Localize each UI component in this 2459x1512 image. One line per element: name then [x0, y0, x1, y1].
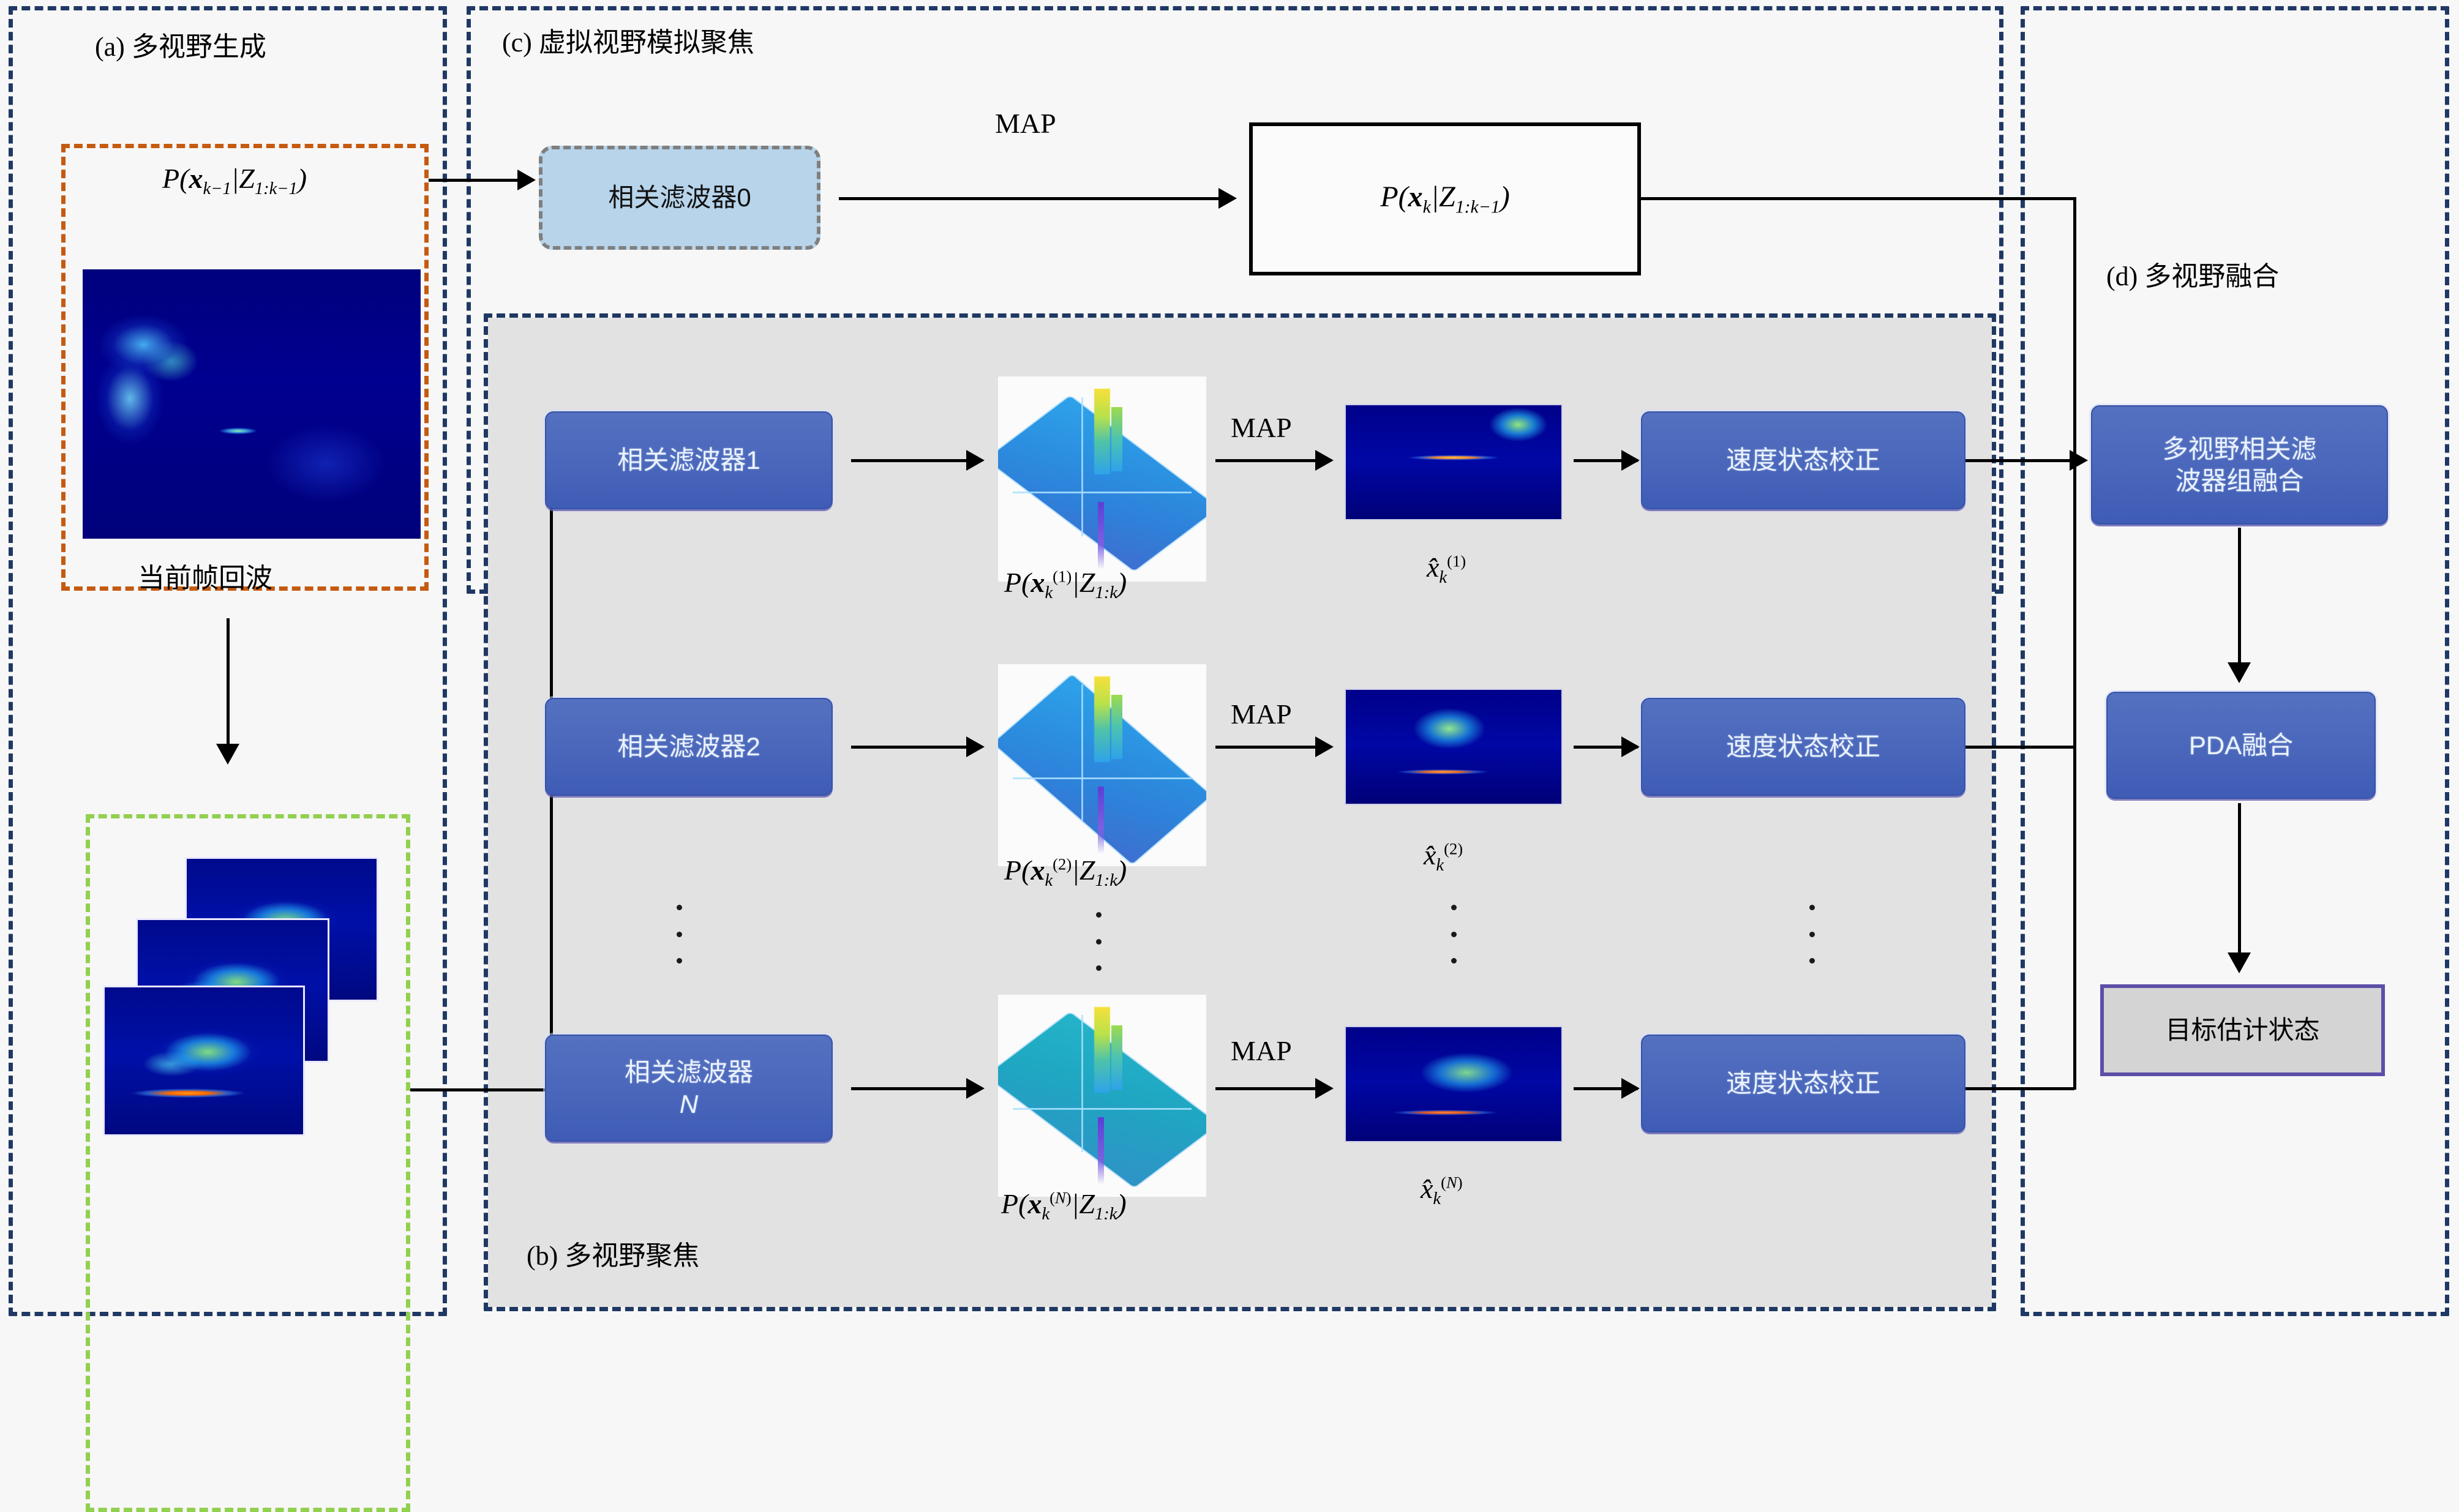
- echo-to-tiles-line: [227, 618, 230, 747]
- filter1-to-surface-arrowhead: [966, 450, 985, 471]
- fusion-to-pda-arrowhead: [2228, 662, 2251, 683]
- ellipsis-surfaces: [1096, 912, 1102, 971]
- right-rail-vertical-top: [2073, 197, 2076, 466]
- correlation-filter-N-label-line1: 相关滤波器: [625, 1058, 753, 1087]
- velocity-correction-1-box[interactable]: 速度状态校正: [1641, 411, 1965, 509]
- current-frame-echo-image: [83, 269, 421, 539]
- posterior-surface-1: [998, 376, 1206, 582]
- filter2-to-surface-arrowhead: [966, 736, 985, 757]
- posterior-2-label: P(xk(2)|Z1:k): [1004, 854, 1127, 891]
- filter0-to-posterior-arrowhead: [1218, 188, 1237, 209]
- right-rail-vertical: [2073, 458, 2076, 1090]
- estimateN-to-velocity-arrowhead: [1621, 1078, 1640, 1099]
- map-label-1: MAP: [1231, 411, 1292, 444]
- surfaceN-to-estimate-arrowhead: [1315, 1078, 1334, 1099]
- filter2-to-surface-line: [851, 746, 967, 749]
- velocity1-to-rail-line: [1965, 459, 2076, 462]
- surface2-to-estimate-line: [1215, 746, 1316, 749]
- multiview-filter-fusion-box[interactable]: 多视野相关滤 波器组融合: [2091, 405, 2388, 525]
- posterior-N-label: P(xk(N)|Z1:k): [1001, 1188, 1127, 1224]
- ellipsis-filters: [677, 905, 682, 964]
- panel-c-caption: (c) 虚拟视野模拟聚焦: [502, 29, 754, 56]
- panel-a-caption: (a) 多视野生成: [95, 34, 266, 61]
- prior-to-filter0-arrowhead: [517, 170, 536, 190]
- estimate-image-N: [1345, 1026, 1563, 1142]
- prior-to-filter0-line: [429, 179, 520, 182]
- filter1-to-surface-line: [851, 459, 967, 462]
- multiview-fusion-label-line1: 多视野相关滤: [2162, 435, 2316, 463]
- surface2-to-estimate-arrowhead: [1315, 736, 1334, 757]
- filter0-to-posterior-line: [839, 197, 1218, 200]
- posterior-to-rail-line: [1641, 197, 2076, 200]
- correlation-filter-N-box[interactable]: 相关滤波器 N: [545, 1035, 833, 1142]
- velocity-correction-2-box[interactable]: 速度状态校正: [1641, 698, 1965, 796]
- correlation-filter-2-box[interactable]: 相关滤波器2: [545, 698, 833, 796]
- filterN-to-surface-line: [851, 1087, 967, 1090]
- map-label-N: MAP: [1231, 1035, 1292, 1067]
- filterN-to-surface-arrowhead: [966, 1078, 985, 1099]
- correlation-filter-N-label-line2: N: [680, 1090, 698, 1118]
- pda-to-target-arrowhead: [2228, 952, 2251, 973]
- panel-d-multiview-fusion: [2021, 6, 2449, 1316]
- predicted-posterior-box: P(xk|Z1:k−1): [1249, 122, 1641, 275]
- estimate1-to-velocity-arrowhead: [1621, 450, 1640, 471]
- echo-to-tiles-arrowhead: [216, 744, 239, 765]
- estimate-N-label: x̂k(N): [1421, 1172, 1463, 1209]
- tiles-to-bus-line: [410, 1088, 551, 1091]
- posterior-surface-2: [998, 664, 1206, 866]
- correlation-filter-0-box[interactable]: 相关滤波器0: [539, 146, 820, 250]
- pda-to-target-line: [2238, 803, 2241, 956]
- map-label-0: MAP: [995, 107, 1056, 140]
- velocity1-to-fusion-arrowhead: [2070, 450, 2088, 471]
- prior-label: P(xk−1|Z1:k−1): [162, 162, 307, 199]
- multiview-tile-3: [103, 986, 305, 1136]
- posterior-surface-N: [998, 995, 1206, 1197]
- pda-fusion-box[interactable]: PDA融合: [2106, 692, 2376, 799]
- surface1-to-estimate-arrowhead: [1315, 450, 1334, 471]
- estimate-2-label: x̂k(2): [1424, 839, 1463, 875]
- target-estimated-state-box: 目标估计状态: [2100, 984, 2385, 1076]
- velocity-correction-N-box[interactable]: 速度状态校正: [1641, 1035, 1965, 1132]
- correlation-filter-1-box[interactable]: 相关滤波器1: [545, 411, 833, 509]
- map-label-2: MAP: [1231, 698, 1292, 730]
- ellipsis-velocity: [1809, 905, 1815, 964]
- fusion-to-pda-line: [2238, 528, 2241, 665]
- estimate-image-2: [1345, 689, 1563, 805]
- posterior-1-label: P(xk(1)|Z1:k): [1004, 566, 1127, 603]
- multiview-fusion-label-line2: 波器组融合: [2175, 466, 2303, 495]
- surface1-to-estimate-line: [1215, 459, 1316, 462]
- ellipsis-estimates: [1451, 905, 1457, 964]
- current-frame-echo-label: 当前帧回波: [138, 556, 272, 595]
- estimate2-to-velocity-arrowhead: [1621, 736, 1640, 757]
- panel-b-caption: (b) 多视野聚焦: [527, 1243, 699, 1270]
- panel-d-caption: (d) 多视野融合: [2106, 263, 2279, 290]
- surfaceN-to-estimate-line: [1215, 1087, 1316, 1090]
- velocity2-to-rail-line: [1965, 746, 2074, 749]
- estimate-image-1: [1345, 404, 1563, 520]
- velocityN-to-rail-line: [1965, 1087, 2074, 1090]
- estimate-1-label: x̂k(1): [1427, 551, 1466, 588]
